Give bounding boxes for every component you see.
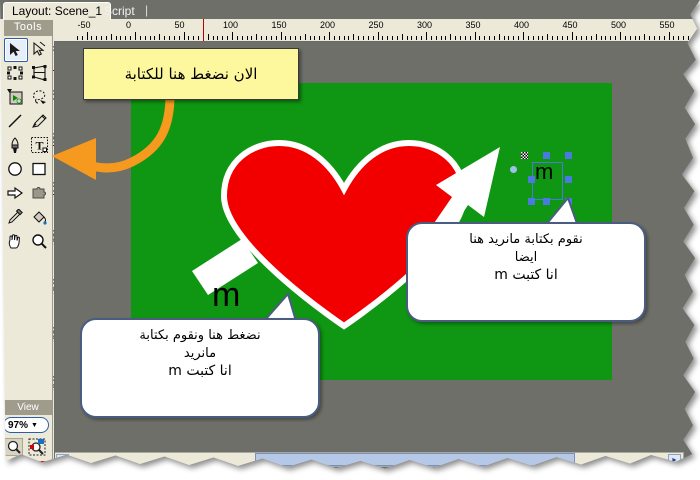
application-window: m m ◄ ► -5005010015020025030035040045050… <box>0 0 700 478</box>
ruler-label-h: 450 <box>563 20 578 30</box>
ruler-tick <box>615 36 616 40</box>
ruler-tick <box>392 36 393 40</box>
ruler-tick <box>179 36 180 40</box>
ruler-tick <box>479 36 480 40</box>
ruler-tick <box>256 34 257 40</box>
ruler-tick <box>227 36 228 40</box>
ruler-tick <box>261 36 262 40</box>
ruler-tick <box>581 36 582 40</box>
ruler-tick <box>135 32 136 40</box>
tab-script[interactable]: Script <box>96 2 143 20</box>
ruler-tick <box>499 34 500 40</box>
bubble-right-text: نقوم بكتابة مانريد هنا ايضا انا كتبت m <box>408 224 644 285</box>
ruler-tick <box>120 36 121 40</box>
line-tool[interactable] <box>4 110 26 132</box>
ruler-tick <box>145 36 146 40</box>
svg-text:100: 100 <box>5 463 17 470</box>
tab-separator: | <box>145 3 148 17</box>
ruler-tick <box>523 32 524 40</box>
ruler-tick <box>237 36 238 40</box>
subselect-tool[interactable] <box>28 38 50 60</box>
ruler-tick <box>87 32 88 40</box>
ruler-tick <box>475 32 476 40</box>
ellipse-tool[interactable] <box>4 158 26 180</box>
torn-paper-shadow: m m ◄ ► -5005010015020025030035040045050… <box>0 0 700 478</box>
ruler-tick <box>508 36 509 40</box>
ruler-tick <box>504 36 505 40</box>
ruler-tick <box>450 34 451 40</box>
bubble-right-line1: نقوم بكتابة مانريد هنا <box>420 231 632 249</box>
ruler-tick <box>140 36 141 40</box>
ruler-tick <box>460 36 461 40</box>
ruler-tick <box>281 32 282 40</box>
ruler-label-h: 100 <box>223 20 238 30</box>
torn-paper-clip: m m ◄ ► -5005010015020025030035040045050… <box>0 0 700 478</box>
zoom-selection-button[interactable] <box>27 437 47 457</box>
chevron-down-icon: ▼ <box>31 422 38 429</box>
callout-text: الان نضغط هنا للكتابة <box>125 65 258 83</box>
zoom-tool[interactable] <box>28 230 50 252</box>
bubble-right-line3: انا كتبت m <box>420 266 632 285</box>
free-transform-tool[interactable] <box>28 62 50 84</box>
bubble-right-line2: ايضا <box>420 249 632 267</box>
ruler-tick <box>198 36 199 40</box>
ruler-tick <box>470 36 471 40</box>
ruler-tick <box>174 36 175 40</box>
callout-tooltip: الان نضغط هنا للكتابة <box>83 48 299 100</box>
ruler-tick <box>368 36 369 40</box>
ruler-tick <box>572 32 573 40</box>
ruler-tick <box>91 36 92 40</box>
ruler-tick <box>639 36 640 40</box>
ruler-tick <box>344 36 345 40</box>
ruler-tick <box>154 36 155 40</box>
selection-handle-top[interactable] <box>543 152 550 159</box>
zoom-in-button[interactable] <box>4 437 24 457</box>
ruler-tick <box>222 36 223 40</box>
svg-text:T: T <box>35 139 43 153</box>
ruler-tick <box>130 36 131 40</box>
ruler-tick <box>620 32 621 40</box>
ruler-tick <box>150 36 151 40</box>
horizontal-scrollbar[interactable]: ◄ ► <box>54 452 684 467</box>
ruler-tick <box>411 36 412 40</box>
selection-handle-top-right[interactable] <box>565 152 572 159</box>
ruler-tick <box>111 34 112 40</box>
ruler-label-h: -50 <box>78 20 91 30</box>
ruler-tick <box>348 36 349 40</box>
paint-bucket-tool[interactable] <box>28 206 50 228</box>
ruler-label-h: 550 <box>660 20 675 30</box>
ruler-tick <box>116 36 117 40</box>
tool-panel: Tools T View 97% ▼ 100 <box>0 19 53 478</box>
scrollbar-right-arrow[interactable]: ► <box>668 454 681 466</box>
ruler-tick <box>484 36 485 40</box>
ruler-tick <box>688 36 689 40</box>
bubble-left-line1: نضغط هنا ونقوم بكتابة <box>94 327 306 345</box>
ruler-tick <box>465 36 466 40</box>
ruler-tick <box>363 36 364 40</box>
ruler-tick <box>610 36 611 40</box>
ruler-tick <box>106 36 107 40</box>
select-arrow-tool[interactable] <box>4 38 28 62</box>
ruler-tick <box>314 36 315 40</box>
ruler-tick <box>421 36 422 40</box>
ruler-tick <box>251 36 252 40</box>
ruler-label-h: 0 <box>126 20 131 30</box>
ruler-label-h: 200 <box>320 20 335 30</box>
selection-handle-transform[interactable] <box>521 152 528 159</box>
horizontal-ruler-guide[interactable] <box>203 19 204 41</box>
ruler-tick <box>596 34 597 40</box>
tool-panel-header: Tools <box>4 19 52 36</box>
selection-handle-left[interactable] <box>528 176 535 183</box>
ruler-tick <box>334 36 335 40</box>
ruler-tick <box>247 36 248 40</box>
selected-text-glyph[interactable]: m <box>535 159 553 185</box>
ruler-tick <box>586 36 587 40</box>
eyedropper-tool[interactable] <box>4 206 26 228</box>
selection-handle-right[interactable] <box>565 176 572 183</box>
scrollbar-left-arrow[interactable]: ◄ <box>56 454 69 466</box>
ruler-tick <box>441 36 442 40</box>
ruler-tick <box>664 36 665 40</box>
ruler-label-h: 50 <box>175 20 185 30</box>
ruler-label-h: 350 <box>466 20 481 30</box>
ruler-label-h: 250 <box>369 20 384 30</box>
bubble-left-text: نضغط هنا ونقوم بكتابة مانريد انا كتبت m <box>82 320 318 381</box>
ruler-tick <box>378 32 379 40</box>
ruler-tick <box>285 36 286 40</box>
ruler-tick <box>324 36 325 40</box>
ruler-tick <box>164 36 165 40</box>
pencil-tool[interactable] <box>28 110 50 132</box>
rectangle-tool[interactable] <box>28 158 50 180</box>
ruler-tick <box>591 36 592 40</box>
ruler-tick <box>538 36 539 40</box>
text-tool[interactable]: T <box>28 134 50 156</box>
ruler-tick <box>455 36 456 40</box>
ruler-tick <box>387 36 388 40</box>
ruler-tick <box>276 36 277 40</box>
ruler-tick <box>402 34 403 40</box>
ruler-tick <box>310 36 311 40</box>
ruler-tick <box>533 36 534 40</box>
ruler-tick <box>382 36 383 40</box>
ruler-label-h: 400 <box>514 20 529 30</box>
ruler-tick <box>431 36 432 40</box>
bubble-left-line3: انا كتبت m <box>94 362 306 381</box>
ruler-tick <box>208 34 209 40</box>
ruler-tick <box>659 36 660 40</box>
transform-fill-tool[interactable] <box>4 86 26 108</box>
view-panel-header: View <box>4 400 52 415</box>
ruler-tick <box>513 36 514 40</box>
ruler-tick <box>669 32 670 40</box>
ruler-tick <box>295 36 296 40</box>
ruler-tick <box>445 36 446 40</box>
ruler-tick <box>494 36 495 40</box>
ruler-tick <box>552 36 553 40</box>
ruler-tick <box>576 36 577 40</box>
ruler-tick <box>169 36 170 40</box>
arrow-shape-tool[interactable] <box>4 182 26 204</box>
ruler-tick <box>184 32 185 40</box>
node-edit-tool[interactable] <box>4 62 26 84</box>
ruler-tick <box>232 32 233 40</box>
ruler-tick <box>242 36 243 40</box>
ruler-tick <box>557 36 558 40</box>
ruler-tick <box>562 36 563 40</box>
ruler-tick <box>271 36 272 40</box>
ruler-tick <box>407 36 408 40</box>
puzzle-shape-tool[interactable] <box>28 182 50 204</box>
scrollbar-thumb[interactable] <box>255 453 575 466</box>
ruler-tick <box>426 32 427 40</box>
ruler-tick <box>683 36 684 40</box>
ruler-tick <box>329 32 330 40</box>
ruler-tick <box>188 36 189 40</box>
ruler-tick <box>528 36 529 40</box>
ruler-tick <box>300 36 301 40</box>
ruler-tick <box>96 36 97 40</box>
ruler-tick <box>630 36 631 40</box>
ruler-tick <box>339 36 340 40</box>
ruler-tick <box>159 34 160 40</box>
zoom-fit-button[interactable] <box>27 460 47 480</box>
hand-tool[interactable] <box>4 230 26 252</box>
stage-text-m[interactable]: m <box>212 276 240 315</box>
ruler-tick <box>193 36 194 40</box>
ruler-tick <box>678 36 679 40</box>
ruler-tick <box>416 36 417 40</box>
ruler-tick <box>101 36 102 40</box>
ruler-tick <box>305 34 306 40</box>
ruler-tick <box>635 36 636 40</box>
ruler-label-h: 300 <box>417 20 432 30</box>
tab-bar: Layout: Scene_1 Script | <box>0 0 700 19</box>
ruler-tick <box>673 36 674 40</box>
ruler-tick <box>518 36 519 40</box>
ruler-tick <box>547 34 548 40</box>
ruler-tick <box>489 36 490 40</box>
ruler-tick <box>353 34 354 40</box>
ruler-tick <box>644 34 645 40</box>
ruler-tick <box>436 36 437 40</box>
lasso-tool[interactable] <box>28 86 50 108</box>
zoom-level-value: 97% <box>8 420 28 431</box>
ruler-tick <box>213 36 214 40</box>
tab-layout-scene[interactable]: Layout: Scene_1 <box>3 2 111 20</box>
zoom-level-dropdown[interactable]: 97% ▼ <box>3 417 49 433</box>
ruler-tick <box>319 36 320 40</box>
bubble-left-line2: مانريد <box>94 345 306 363</box>
ruler-label-h: 500 <box>611 20 626 30</box>
brush-tool[interactable] <box>4 134 26 156</box>
ruler-tick <box>82 36 83 40</box>
ruler-tick <box>373 36 374 40</box>
ruler-tick <box>290 36 291 40</box>
ruler-tick <box>605 36 606 40</box>
ruler-tick <box>217 36 218 40</box>
orange-pointer-arrow <box>48 92 178 184</box>
ruler-tick <box>649 36 650 40</box>
ruler-tick <box>125 36 126 40</box>
ruler-tick <box>567 36 568 40</box>
ruler-tick <box>601 36 602 40</box>
ruler-tick <box>625 36 626 40</box>
horizontal-ruler[interactable]: -50050100150200250300350400450500550 <box>53 19 700 42</box>
ruler-tick <box>266 36 267 40</box>
ruler-label-h: 150 <box>272 20 287 30</box>
selection-handle-anchor[interactable] <box>510 166 517 173</box>
ruler-tick <box>654 36 655 40</box>
zoom-100-button[interactable]: 100 <box>4 460 24 480</box>
ruler-tick <box>397 36 398 40</box>
ruler-tick <box>77 36 78 40</box>
ruler-tick <box>542 36 543 40</box>
ruler-tick <box>358 36 359 40</box>
